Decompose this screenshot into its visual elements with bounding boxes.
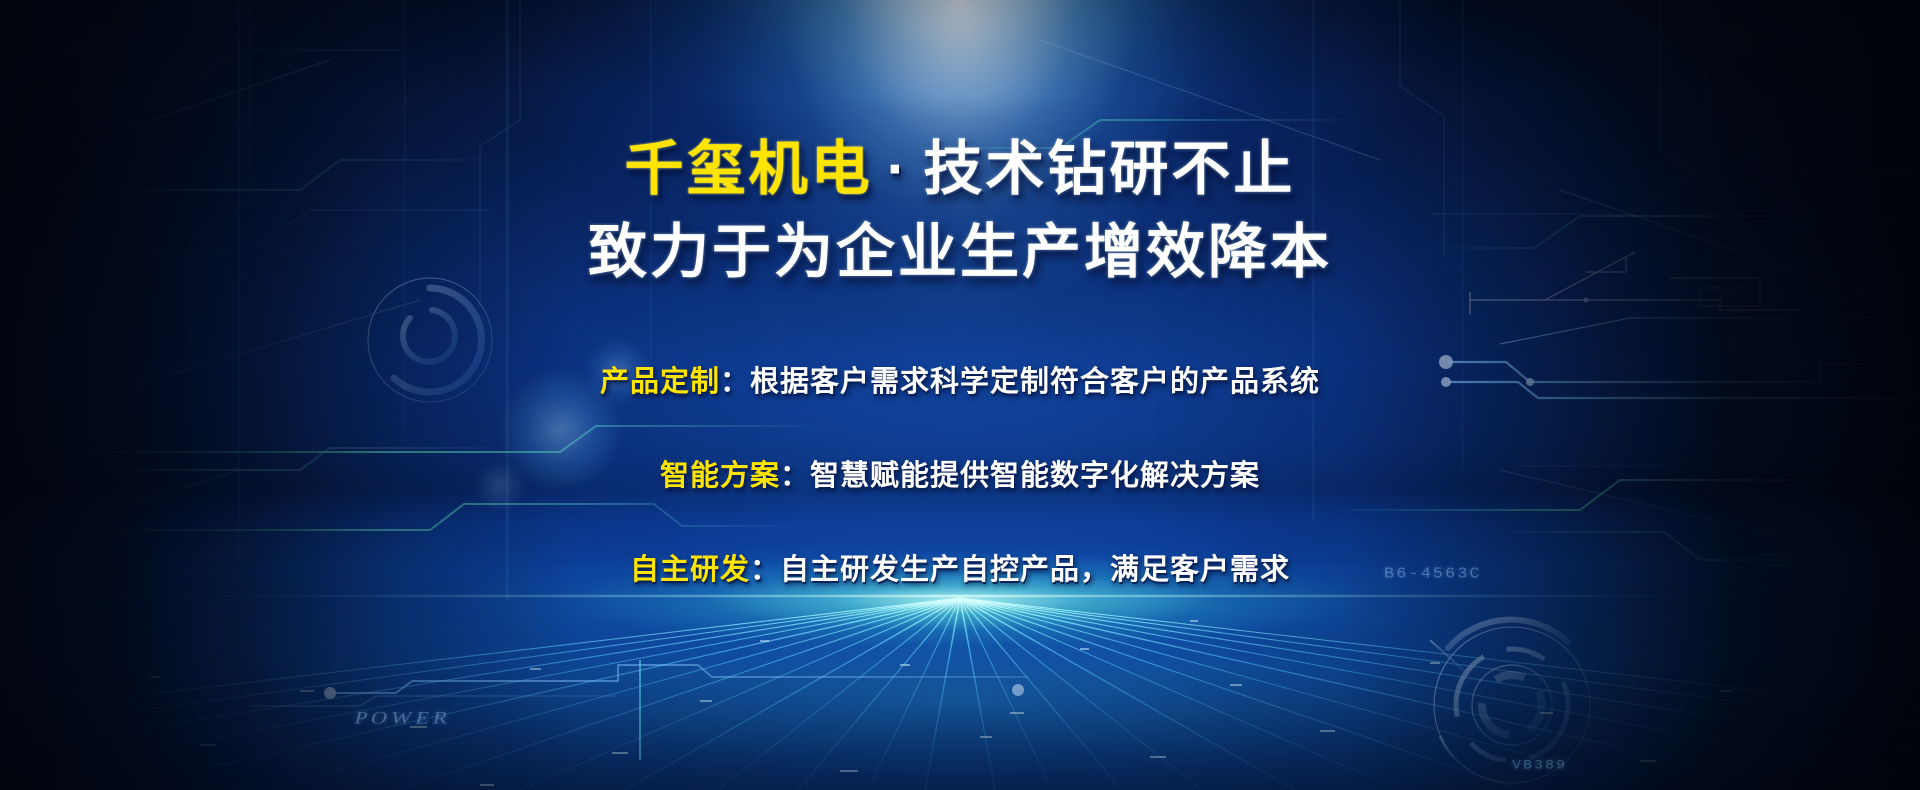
floor-label-vcode: VB389 bbox=[1512, 758, 1567, 772]
feature-item-product-customization: 产品定制：根据客户需求科学定制符合客户的产品系统 bbox=[0, 358, 1920, 400]
feature-colon: ： bbox=[720, 366, 750, 398]
feature-text: 根据客户需求科学定制符合客户的产品系统 bbox=[750, 366, 1320, 398]
feature-text: 自主研发生产自控产品，满足客户需求 bbox=[780, 554, 1290, 586]
headline-tagline: 技术钻研不止 bbox=[923, 136, 1295, 202]
feature-label: 产品定制 bbox=[600, 366, 720, 398]
headline-line-1: 千玺机电·技术钻研不止 bbox=[0, 140, 1920, 199]
feature-list: 产品定制：根据客户需求科学定制符合客户的产品系统 智能方案：智慧赋能提供智能数字… bbox=[0, 358, 1920, 588]
hero-banner: POWER B6-4563C VB389 千玺机电·技术钻研不止 致力于为企业生… bbox=[0, 0, 1920, 790]
feature-text: 智慧赋能提供智能数字化解决方案 bbox=[810, 460, 1260, 492]
brand-name: 千玺机电 bbox=[625, 136, 873, 202]
feature-colon: ： bbox=[780, 460, 810, 492]
feature-label: 自主研发 bbox=[630, 554, 750, 586]
feature-label: 智能方案 bbox=[660, 460, 780, 492]
headline-group: 千玺机电·技术钻研不止 致力于为企业生产增效降本 bbox=[0, 140, 1920, 282]
floor-label-power: POWER bbox=[352, 708, 454, 729]
feature-item-smart-solution: 智能方案：智慧赋能提供智能数字化解决方案 bbox=[0, 452, 1920, 494]
headline-line-2: 致力于为企业生产增效降本 bbox=[0, 223, 1920, 282]
feature-item-independent-rnd: 自主研发：自主研发生产自控产品，满足客户需求 bbox=[0, 546, 1920, 588]
headline-separator: · bbox=[873, 136, 924, 202]
feature-colon: ： bbox=[750, 554, 780, 586]
